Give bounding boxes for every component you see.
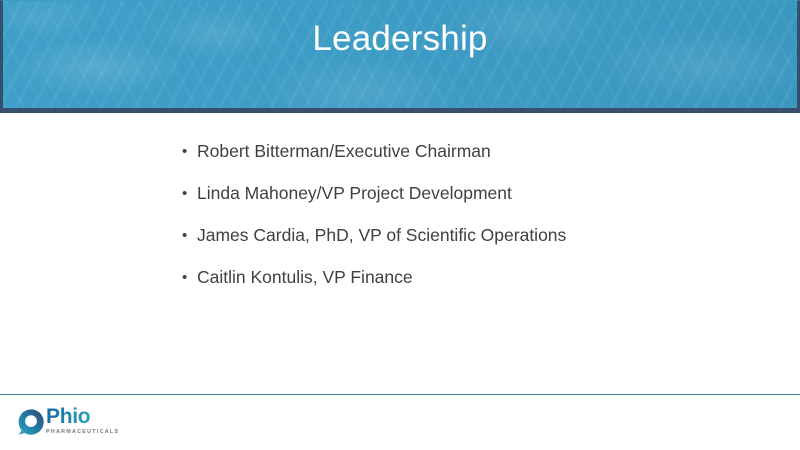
presentation-slide: Leadership • Robert Bitterman/Executive …: [0, 0, 800, 450]
slide-title-banner: Leadership: [0, 0, 800, 108]
phio-wordmark-block: Phio PHARMACEUTICALS: [46, 407, 119, 436]
list-item-label: Robert Bitterman/Executive Chairman: [197, 140, 491, 163]
phio-wordmark: Phio: [46, 407, 119, 427]
phio-circle-mark-icon: [17, 408, 45, 436]
list-item-label: James Cardia, PhD, VP of Scientific Oper…: [197, 224, 566, 247]
list-item-label: Caitlin Kontulis, VP Finance: [197, 266, 413, 289]
list-item: • Linda Mahoney/VP Project Development: [182, 182, 742, 205]
phio-logo: Phio PHARMACEUTICALS: [17, 407, 119, 441]
bullet-point-icon: •: [182, 266, 197, 289]
bullet-point-icon: •: [182, 140, 197, 163]
banner-underline-bar: [0, 108, 800, 113]
phio-tagline: PHARMACEUTICALS: [46, 428, 119, 436]
list-item: • Robert Bitterman/Executive Chairman: [182, 140, 742, 163]
list-item-label: Linda Mahoney/VP Project Development: [197, 182, 512, 205]
slide-title: Leadership: [3, 17, 797, 61]
list-item: • James Cardia, PhD, VP of Scientific Op…: [182, 224, 742, 247]
bullet-point-icon: •: [182, 224, 197, 247]
list-item: • Caitlin Kontulis, VP Finance: [182, 266, 742, 289]
footer-divider: [0, 394, 800, 395]
bullet-point-icon: •: [182, 182, 197, 205]
slide-body-content: • Robert Bitterman/Executive Chairman • …: [182, 140, 742, 308]
